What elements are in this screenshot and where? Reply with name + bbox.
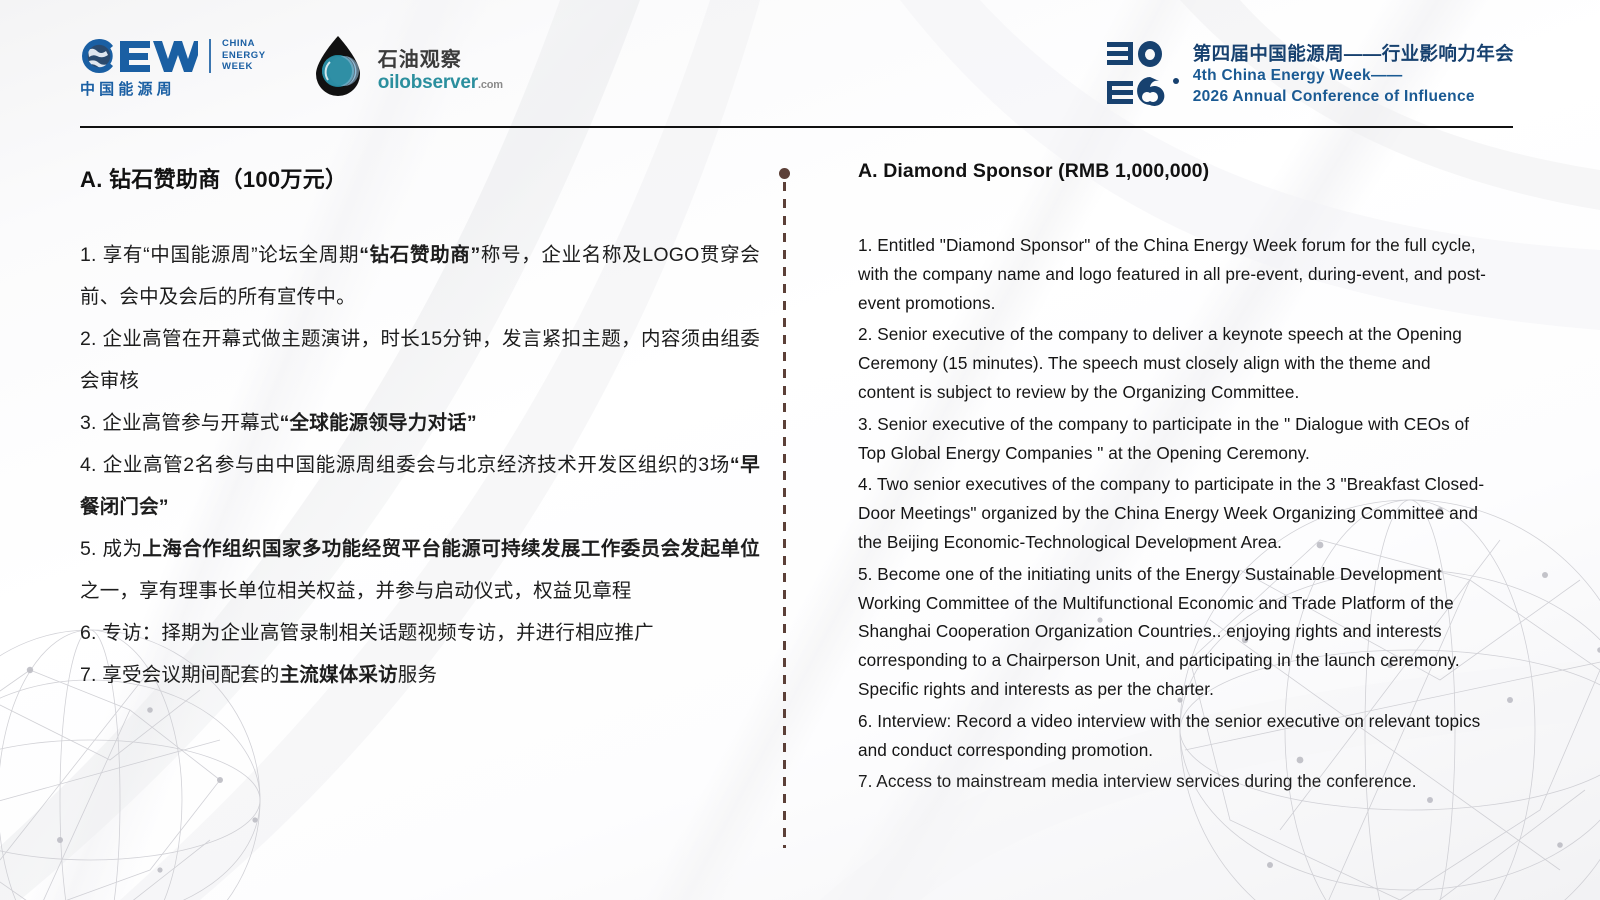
english-item-7: 7. Access to mainstream media interview … [858, 767, 1492, 796]
cew-tagline: CHINA ENERGY WEEK [222, 38, 266, 73]
chinese-item-list: 1. 享有“中国能源周”论坛全周期“钻石赞助商”称号，企业名称及LOGO贯穿会前… [80, 234, 760, 696]
english-item-6: 6. Interview: Record a video interview w… [858, 707, 1492, 765]
cew-tagline-line-2: ENERGY [222, 50, 266, 62]
english-item-4: 4. Two senior executives of the company … [858, 470, 1492, 556]
chinese-item-5-bold: 上海合作组织国家多功能经贸平台能源可持续发展工作委员会发起单位 [142, 538, 760, 560]
cew-logo-divider [209, 39, 211, 73]
cew-logo: CHINA ENERGY WEEK 中 国 能 源 周 [80, 37, 266, 99]
chinese-item-5: 5. 成为上海合作组织国家多功能经贸平台能源可持续发展工作委员会发起单位之一，享… [80, 528, 760, 612]
english-column: A. Diamond Sponsor (RMB 1,000,000) 1. En… [858, 160, 1492, 799]
chinese-item-5-lead: 5. 成为 [80, 538, 142, 560]
chinese-item-4: 4. 企业高管2名参与由中国能源周组委会与北京经济技术开发区组织的3场“早餐闭门… [80, 444, 760, 528]
oil-droplet-icon [310, 34, 366, 101]
chinese-item-3-lead: 3. 企业高管参与开幕式 [80, 412, 280, 434]
cew-wordmark-icon [80, 37, 198, 75]
year-separator-dot-icon [1173, 78, 1179, 84]
chinese-item-1-lead: 1. 享有“中国能源周”论坛全周期 [80, 244, 359, 266]
slide-header: CHINA ENERGY WEEK 中 国 能 源 周 [0, 0, 1600, 140]
chinese-item-7: 7. 享受会议期间配套的主流媒体采访服务 [80, 654, 760, 696]
chinese-item-7-tail: 服务 [398, 664, 437, 686]
oil-english-word: oilobserver [378, 72, 478, 93]
english-heading: A. Diamond Sponsor (RMB 1,000,000) [858, 160, 1492, 183]
chinese-item-2-lead: 2. 企业高管在开幕式做主题演讲，时长15分钟，发言紧扣主题，内容须由组委会审核 [80, 328, 760, 392]
year-2026-glyph-icon [1105, 40, 1167, 108]
chinese-item-3: 3. 企业高管参与开幕式“全球能源领导力对话” [80, 402, 760, 444]
cew-tagline-line-3: WEEK [222, 61, 266, 73]
header-divider-rule [80, 126, 1513, 128]
chinese-item-2: 2. 企业高管在开幕式做主题演讲，时长15分钟，发言紧扣主题，内容须由组委会审核 [80, 318, 760, 402]
english-item-list: 1. Entitled "Diamond Sponsor" of the Chi… [858, 231, 1492, 796]
chinese-item-4-lead: 4. 企业高管2名参与由中国能源周组委会与北京经济技术开发区组织的3场 [80, 454, 730, 476]
english-item-1: 1. Entitled "Diamond Sponsor" of the Chi… [858, 231, 1492, 317]
chinese-item-7-lead: 7. 享受会议期间配套的 [80, 664, 280, 686]
column-divider [783, 172, 786, 848]
cew-chinese-name: 中 国 能 源 周 [80, 78, 238, 99]
oilobserver-logo: 石油观察 oilobserver.com [310, 34, 503, 101]
oil-domain-suffix: .com [478, 79, 503, 91]
conference-title-cn: 第四届中国能源周——行业影响力年会 [1193, 42, 1514, 65]
english-item-2: 2. Senior executive of the company to de… [858, 320, 1492, 406]
logo-row: CHINA ENERGY WEEK 中 国 能 源 周 [80, 34, 503, 101]
conference-title-en-line1: 4th China Energy Week—— [1193, 66, 1514, 86]
english-item-5: 5. Become one of the initiating units of… [858, 560, 1492, 704]
divider-dot-icon [779, 168, 790, 179]
year-2026-logo [1105, 40, 1179, 108]
chinese-item-5-tail: 之一，享有理事长单位相关权益，并参与启动仪式，权益见章程 [80, 580, 632, 602]
slide-root: CHINA ENERGY WEEK 中 国 能 源 周 [0, 0, 1600, 900]
oil-chinese-name: 石油观察 [378, 43, 503, 72]
english-item-3: 3. Senior executive of the company to pa… [858, 410, 1492, 468]
cew-tagline-line-1: CHINA [222, 38, 266, 50]
chinese-item-6: 6. 专访：择期为企业高管录制相关话题视频专访，并进行相应推广 [80, 612, 760, 654]
chinese-item-3-bold: “全球能源领导力对话” [280, 412, 477, 434]
conference-identity: 第四届中国能源周——行业影响力年会 4th China Energy Week—… [1105, 40, 1514, 108]
conference-title-en-line2: 2026 Annual Conference of Influence [1193, 87, 1514, 107]
chinese-item-7-bold: 主流媒体采访 [280, 664, 398, 686]
chinese-heading: A. 钻石赞助商（100万元） [80, 162, 760, 194]
divider-dotted-line [783, 182, 786, 848]
oil-english-name: oilobserver.com [378, 73, 503, 92]
chinese-item-1-bold: “钻石赞助商” [359, 244, 480, 266]
chinese-column: A. 钻石赞助商（100万元） 1. 享有“中国能源周”论坛全周期“钻石赞助商”… [80, 162, 760, 696]
chinese-item-6-lead: 6. 专访：择期为企业高管录制相关话题视频专访，并进行相应推广 [80, 622, 654, 644]
chinese-item-1: 1. 享有“中国能源周”论坛全周期“钻石赞助商”称号，企业名称及LOGO贯穿会前… [80, 234, 760, 318]
